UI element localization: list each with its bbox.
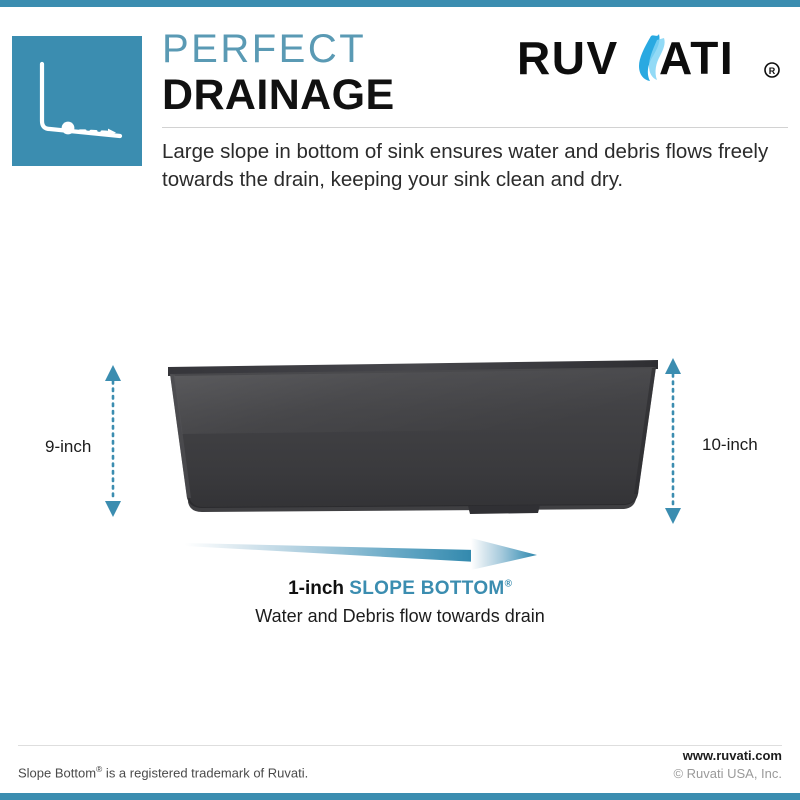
caption-brand: SLOPE BOTTOM (349, 578, 504, 599)
dimension-arrow-left (100, 365, 160, 517)
header-description: Large slope in bottom of sink ensures wa… (162, 138, 788, 194)
slope-caption: 1-inch SLOPE BOTTOM® (0, 578, 800, 600)
ruvati-logo: RUV ATI R (511, 32, 786, 88)
footer-trademark-note: Slope Bottom® is a registered trademark … (18, 764, 308, 780)
caption-registered-mark: ® (505, 579, 512, 590)
dimension-label-left: 9-inch (45, 437, 91, 457)
svg-text:RUV: RUV (517, 32, 619, 84)
header-divider (162, 127, 788, 128)
footer-copyright: © Ruvati USA, Inc. (673, 766, 782, 781)
product-diagram: 9-inch 10-inch (0, 200, 800, 745)
footer-website[interactable]: www.ruvati.com (683, 748, 782, 763)
footer-trademark-name: Slope Bottom (18, 765, 96, 780)
svg-text:R: R (769, 66, 776, 76)
drainage-icon-tile (12, 36, 142, 166)
top-accent-bar (0, 0, 800, 7)
caption-measure: 1-inch (288, 578, 344, 599)
dimension-label-right: 10-inch (702, 435, 758, 455)
svg-text:ATI: ATI (659, 32, 734, 84)
footer-divider (18, 745, 782, 746)
slope-flow-arrow (185, 532, 615, 576)
slope-caption-sub: Water and Debris flow towards drain (0, 606, 800, 627)
footer-trademark-text: is a registered trademark of Ruvati. (102, 765, 308, 780)
header: PERFECT DRAINAGE Large slope in bottom o… (0, 26, 800, 198)
bottom-accent-bar (0, 793, 800, 800)
sink-side-profile (168, 358, 658, 528)
infographic-page: PERFECT DRAINAGE Large slope in bottom o… (0, 0, 800, 800)
footer: Slope Bottom® is a registered trademark … (0, 745, 800, 793)
